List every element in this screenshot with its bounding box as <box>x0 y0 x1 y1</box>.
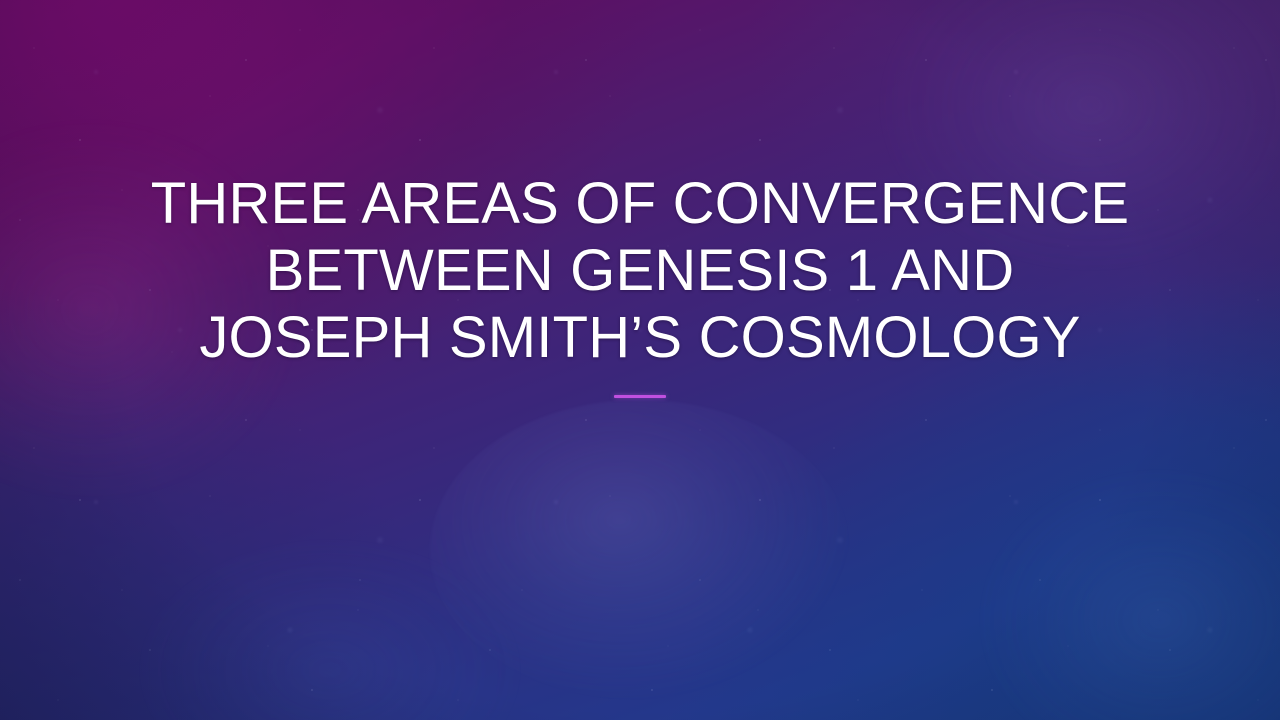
title-block: THREE AREAS OF CONVERGENCE BETWEEN GENES… <box>128 170 1152 371</box>
title-underline-accent-wrap <box>128 394 1152 398</box>
title-slide: THREE AREAS OF CONVERGENCE BETWEEN GENES… <box>0 0 1280 720</box>
slide-title: THREE AREAS OF CONVERGENCE BETWEEN GENES… <box>128 170 1152 371</box>
title-underline-accent <box>614 395 666 398</box>
